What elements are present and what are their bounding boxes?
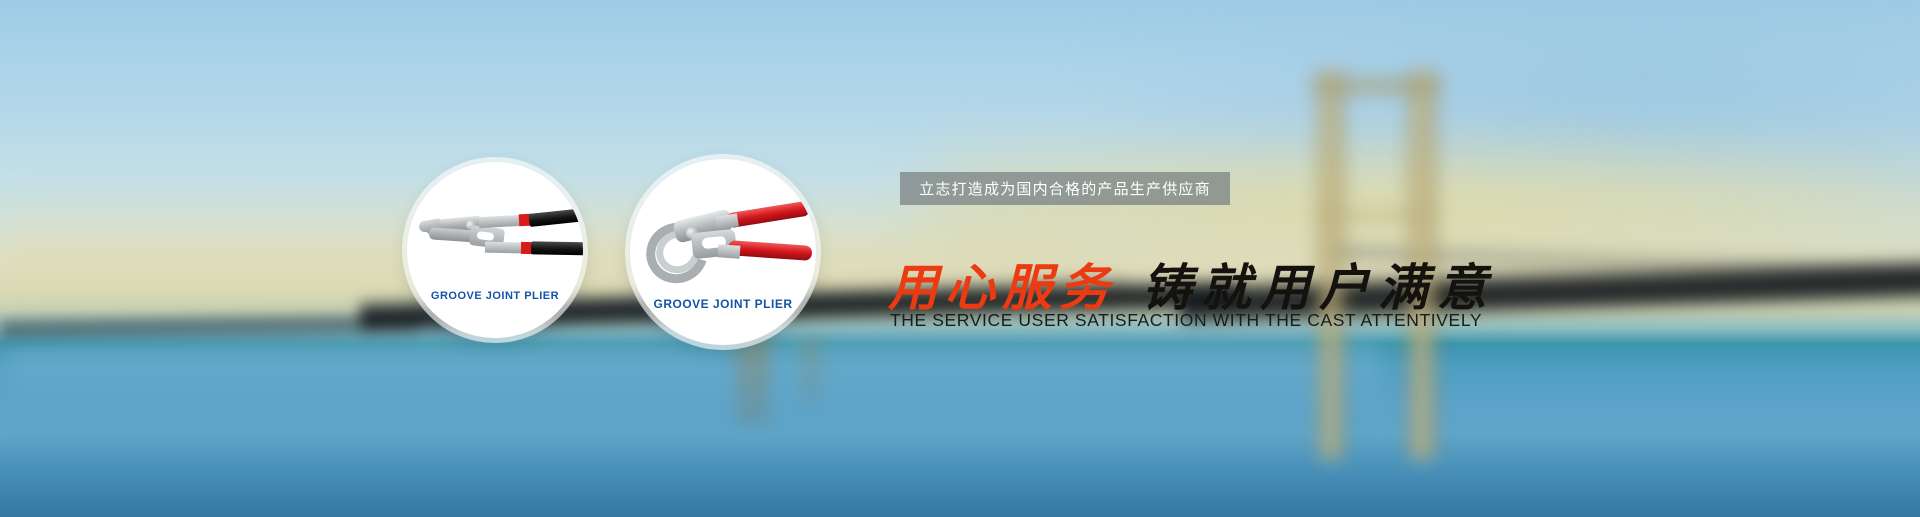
plier-arm-upper-steel-1 bbox=[479, 215, 522, 228]
plier-arm-lower-grip-1 bbox=[531, 241, 583, 255]
product-circle-2[interactable]: GROOVE JOINT PLIER bbox=[630, 159, 816, 345]
bridge-pier-secondary bbox=[800, 336, 822, 406]
bridge-tower-crossbeam-top bbox=[1312, 78, 1442, 94]
headline-subtitle: THE SERVICE USER SATISFACTION WITH THE C… bbox=[890, 310, 1482, 331]
product-label-1: GROOVE JOINT PLIER bbox=[431, 290, 559, 302]
plier-handle-joint-lower-2 bbox=[718, 244, 741, 259]
bridge-pier bbox=[736, 330, 770, 425]
plier-illustration-1 bbox=[407, 200, 583, 274]
plier-arm-lower-steel-1 bbox=[485, 242, 523, 254]
tagline-bar: 立志打造成为国内合格的产品生产供应商 bbox=[900, 172, 1230, 205]
plier-handle-lower-2 bbox=[728, 240, 813, 261]
headline-black-text: 铸就用户满意 bbox=[1142, 258, 1496, 317]
tagline-text: 立志打造成为国内合格的产品生产供应商 bbox=[919, 178, 1211, 199]
headline-red-text: 用心服务 bbox=[888, 258, 1116, 317]
product-circle-1[interactable]: GROOVE JOINT PLIER bbox=[407, 162, 583, 338]
product-label-2: GROOVE JOINT PLIER bbox=[653, 297, 792, 311]
plier-illustration-2 bbox=[630, 201, 816, 283]
bridge-tower-crossbeam-mid bbox=[1314, 210, 1440, 222]
hero-banner: GROOVE JOINT PLIER GROOVE JOINT PLIER 立志… bbox=[0, 0, 1920, 517]
bridge-deck-band-far-left bbox=[0, 312, 420, 340]
plier-arm-upper-grip-1 bbox=[529, 206, 583, 227]
